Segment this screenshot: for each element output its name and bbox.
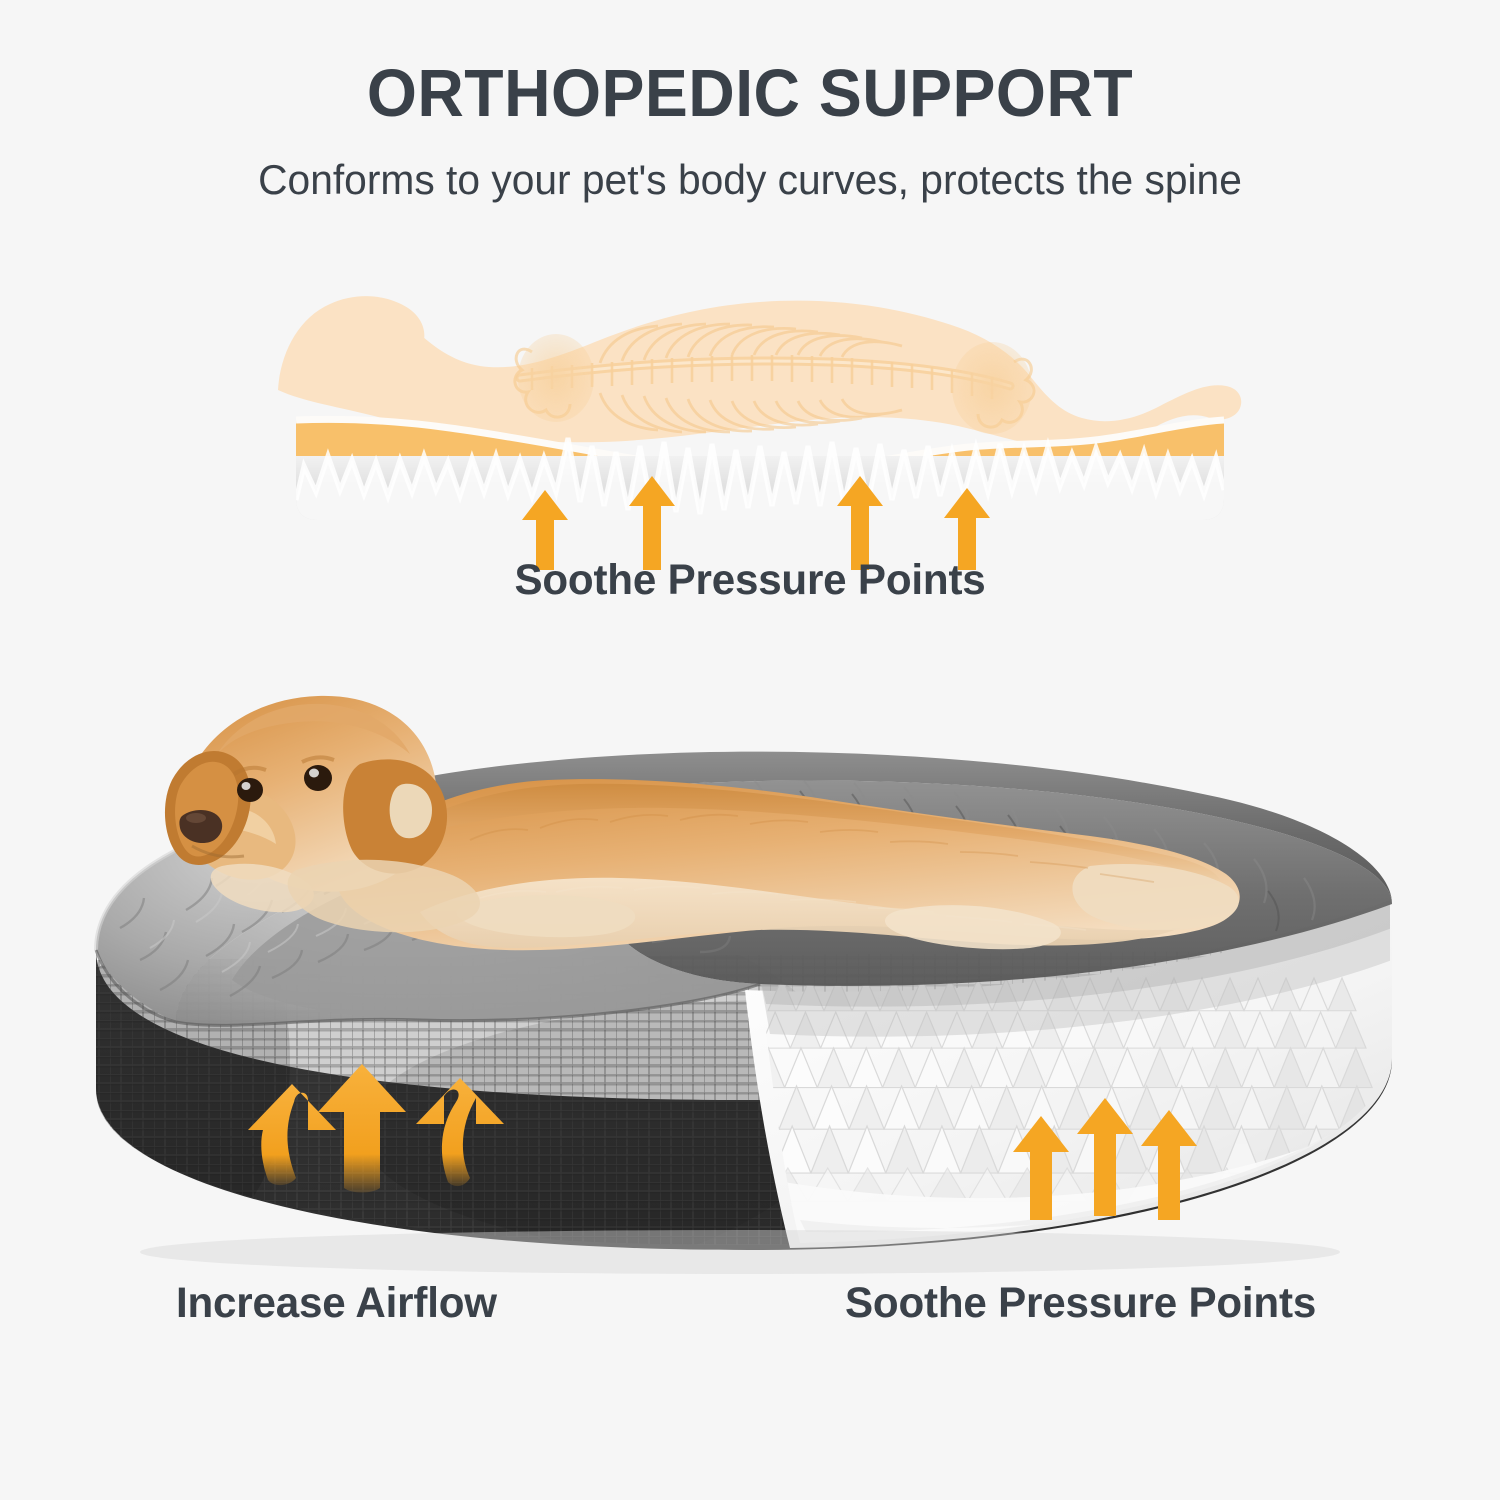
page-title: ORTHOPEDIC SUPPORT (30, 60, 1470, 127)
bottom-labels: Increase Airflow Soothe Pressure Points (0, 1282, 1500, 1352)
dog-eye-left (237, 778, 263, 802)
header: ORTHOPEDIC SUPPORT Conforms to your pet'… (0, 0, 1500, 201)
diagram-pressure-label: Soothe Pressure Points (15, 556, 1485, 605)
label-increase-airflow: Increase Airflow (176, 1282, 497, 1325)
dog-bed-photo (0, 660, 1500, 1280)
page-subtitle: Conforms to your pet's body curves, prot… (23, 159, 1478, 201)
label-soothe-pressure-points: Soothe Pressure Points (845, 1282, 1316, 1325)
dog-eye-right (304, 765, 332, 791)
bed-shadow (140, 1230, 1340, 1274)
